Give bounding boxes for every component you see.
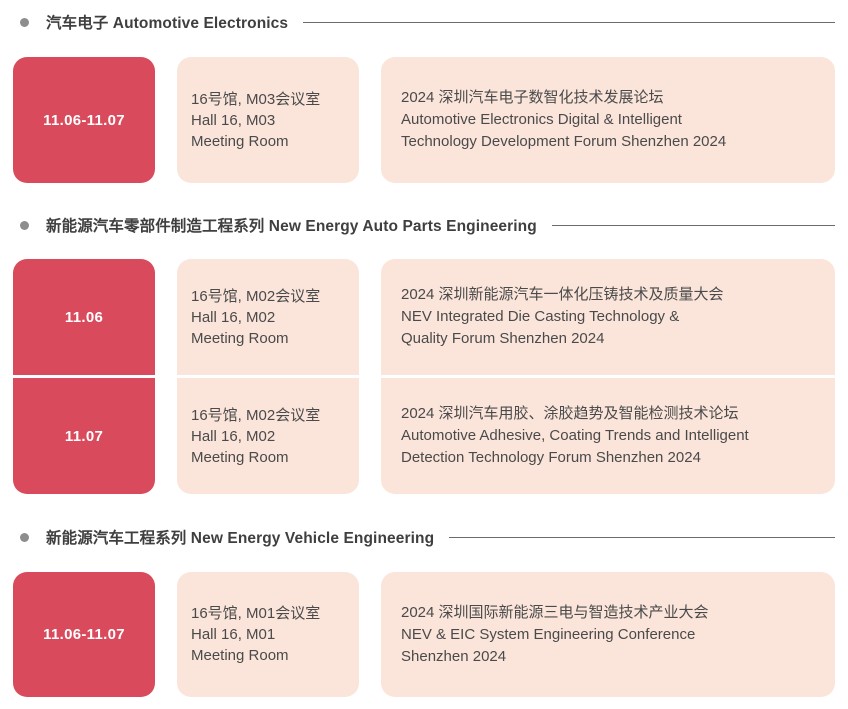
section-header: 新能源汽车工程系列 New Energy Vehicle Engineering	[0, 522, 848, 552]
venue-column: 16号馆, M03会议室Hall 16, M03Meeting Room	[177, 57, 359, 183]
event-block[interactable]: 2024 深圳汽车电子数智化技术发展论坛Automotive Electroni…	[381, 57, 835, 183]
date-column: 11.06-11.07	[13, 57, 155, 183]
section-title-text: 汽车电子 Automotive Electronics	[46, 11, 288, 33]
event-line: 2024 深圳新能源汽车一体化压铸技术及质量大会	[401, 284, 819, 306]
date-chip[interactable]: 11.07	[13, 378, 155, 494]
venue-column: 16号馆, M01会议室Hall 16, M01Meeting Room	[177, 572, 359, 697]
section-header: 新能源汽车零部件制造工程系列 New Energy Auto Parts Eng…	[0, 210, 848, 240]
event-block[interactable]: 2024 深圳新能源汽车一体化压铸技术及质量大会NEV Integrated D…	[381, 259, 835, 375]
venue-line: Hall 16, M03	[191, 110, 349, 131]
date-column: 11.06-11.07	[13, 572, 155, 697]
bullet-dot-icon	[20, 221, 29, 230]
date-column: 11.0611.07	[13, 259, 155, 494]
event-line: Quality Forum Shenzhen 2024	[401, 328, 819, 350]
date-text: 11.07	[65, 428, 103, 445]
date-chip[interactable]: 11.06-11.07	[13, 572, 155, 697]
event-line: Automotive Adhesive, Coating Trends and …	[401, 425, 819, 447]
venue-line: Meeting Room	[191, 447, 349, 468]
venue-line: Meeting Room	[191, 328, 349, 349]
schedule-section: 新能源汽车工程系列 New Energy Vehicle Engineering…	[0, 522, 848, 697]
venue-line: Hall 16, M01	[191, 624, 349, 645]
section-divider-rule	[449, 537, 835, 538]
section-title-text: 新能源汽车零部件制造工程系列 New Energy Auto Parts Eng…	[46, 214, 537, 236]
event-block[interactable]: 2024 深圳国际新能源三电与智造技术产业大会NEV & EIC System …	[381, 572, 835, 697]
schedule-section: 新能源汽车零部件制造工程系列 New Energy Auto Parts Eng…	[0, 210, 848, 494]
event-block[interactable]: 2024 深圳汽车用胶、涂胶趋势及智能检测技术论坛Automotive Adhe…	[381, 378, 835, 494]
schedule-row-group: 11.06-11.0716号馆, M03会议室Hall 16, M03Meeti…	[0, 57, 848, 183]
date-chip[interactable]: 11.06-11.07	[13, 57, 155, 183]
event-line: Detection Technology Forum Shenzhen 2024	[401, 447, 819, 469]
venue-line: Meeting Room	[191, 645, 349, 666]
date-text: 11.06-11.07	[43, 112, 125, 129]
event-line: NEV Integrated Die Casting Technology &	[401, 306, 819, 328]
event-column: 2024 深圳新能源汽车一体化压铸技术及质量大会NEV Integrated D…	[381, 259, 835, 494]
venue-line: Meeting Room	[191, 131, 349, 152]
venue-line: 16号馆, M03会议室	[191, 89, 349, 110]
venue-line: Hall 16, M02	[191, 307, 349, 328]
venue-line: 16号馆, M02会议室	[191, 286, 349, 307]
date-text: 11.06-11.07	[43, 626, 125, 643]
event-column: 2024 深圳汽车电子数智化技术发展论坛Automotive Electroni…	[381, 57, 835, 183]
event-line: Shenzhen 2024	[401, 646, 819, 668]
venue-line: 16号馆, M01会议室	[191, 603, 349, 624]
section-title-text: 新能源汽车工程系列 New Energy Vehicle Engineering	[46, 526, 434, 548]
schedule-row-group: 11.06-11.0716号馆, M01会议室Hall 16, M01Meeti…	[0, 572, 848, 697]
venue-block[interactable]: 16号馆, M03会议室Hall 16, M03Meeting Room	[177, 57, 359, 183]
venue-column: 16号馆, M02会议室Hall 16, M02Meeting Room16号馆…	[177, 259, 359, 494]
event-line: NEV & EIC System Engineering Conference	[401, 624, 819, 646]
bullet-dot-icon	[20, 18, 29, 27]
schedule-row-group: 11.0611.0716号馆, M02会议室Hall 16, M02Meetin…	[0, 259, 848, 494]
venue-line: 16号馆, M02会议室	[191, 405, 349, 426]
date-text: 11.06	[65, 309, 103, 326]
event-line: 2024 深圳汽车电子数智化技术发展论坛	[401, 87, 819, 109]
section-divider-rule	[552, 225, 835, 226]
venue-block[interactable]: 16号馆, M01会议室Hall 16, M01Meeting Room	[177, 572, 359, 697]
venue-line: Hall 16, M02	[191, 426, 349, 447]
event-line: 2024 深圳汽车用胶、涂胶趋势及智能检测技术论坛	[401, 403, 819, 425]
event-line: Technology Development Forum Shenzhen 20…	[401, 131, 819, 153]
schedule-section: 汽车电子 Automotive Electronics11.06-11.0716…	[0, 7, 848, 183]
date-chip[interactable]: 11.06	[13, 259, 155, 375]
bullet-dot-icon	[20, 533, 29, 542]
event-line: 2024 深圳国际新能源三电与智造技术产业大会	[401, 602, 819, 624]
section-divider-rule	[303, 22, 835, 23]
event-line: Automotive Electronics Digital & Intelli…	[401, 109, 819, 131]
section-header: 汽车电子 Automotive Electronics	[0, 7, 848, 37]
event-column: 2024 深圳国际新能源三电与智造技术产业大会NEV & EIC System …	[381, 572, 835, 697]
venue-block[interactable]: 16号馆, M02会议室Hall 16, M02Meeting Room	[177, 378, 359, 494]
venue-block[interactable]: 16号馆, M02会议室Hall 16, M02Meeting Room	[177, 259, 359, 375]
